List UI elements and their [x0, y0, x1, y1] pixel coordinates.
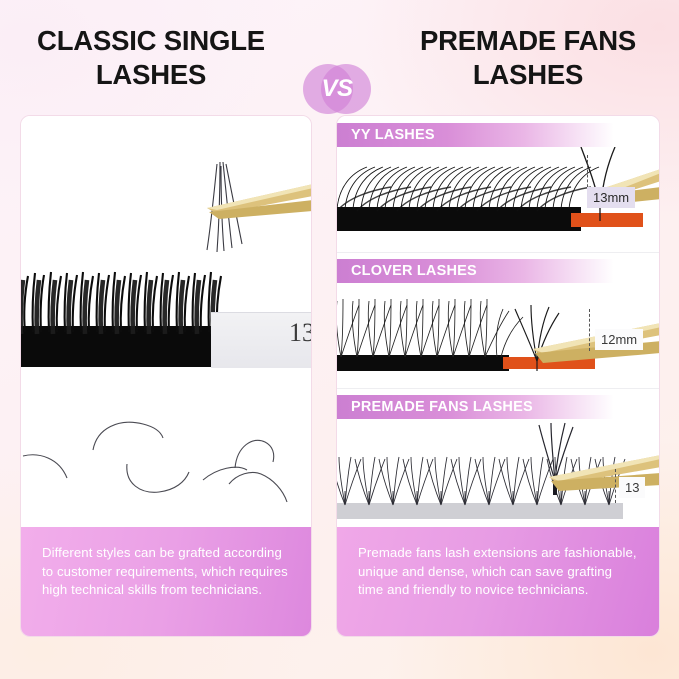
- premade-fans-lashes-card: YY LASHES: [336, 115, 660, 637]
- premade-measure-label: 13: [619, 477, 645, 498]
- section-banner-yy: YY LASHES: [337, 123, 659, 147]
- classic-single-lashes-card: 13 Different styles can be grafted accor…: [20, 115, 312, 637]
- section-banner-clover: CLOVER LASHES: [337, 259, 659, 283]
- tweezer-single-lash-illustration: [21, 116, 311, 276]
- infographic-poster: CLASSIC SINGLE LASHES VS PREMADE FANS LA…: [0, 0, 679, 679]
- section-premade-fans-lashes: PREMADE FANS LASHES: [337, 388, 659, 527]
- header: CLASSIC SINGLE LASHES VS PREMADE FANS LA…: [0, 24, 679, 106]
- section-yy-lashes: YY LASHES: [337, 116, 659, 253]
- yy-measure-label: 13mm: [587, 187, 635, 208]
- section-label-clover: CLOVER LASHES: [351, 259, 477, 283]
- classic-ruler-block: 13: [211, 312, 311, 368]
- premade-caption: Premade fans lash extensions are fashion…: [337, 527, 659, 636]
- vs-badge: VS: [303, 64, 371, 114]
- clover-lashes-artwork: 12mm: [337, 283, 659, 388]
- classic-card-artwork: 13: [21, 116, 311, 527]
- classic-size-label: 13: [289, 318, 311, 348]
- section-banner-premade: PREMADE FANS LASHES: [337, 395, 659, 419]
- vs-label: VS: [303, 64, 371, 114]
- classic-lash-strip: [21, 262, 225, 367]
- clover-measure-line: [589, 309, 590, 351]
- yy-lashes-artwork: 13mm: [337, 147, 659, 252]
- single-lash-curl-illustrations: [21, 394, 311, 514]
- premade-fans-artwork: 13: [337, 419, 659, 527]
- premade-measure-line: [615, 469, 616, 503]
- right-panel-title: PREMADE FANS LASHES: [387, 24, 669, 91]
- clover-measure-label: 12mm: [595, 329, 643, 350]
- left-panel-title: CLASSIC SINGLE LASHES: [10, 24, 292, 91]
- premade-card-artwork: YY LASHES: [337, 116, 659, 527]
- classic-caption: Different styles can be grafted accordin…: [21, 527, 311, 636]
- section-label-premade: PREMADE FANS LASHES: [351, 395, 533, 419]
- section-clover-lashes: CLOVER LASHES: [337, 252, 659, 389]
- section-label-yy: YY LASHES: [351, 123, 435, 147]
